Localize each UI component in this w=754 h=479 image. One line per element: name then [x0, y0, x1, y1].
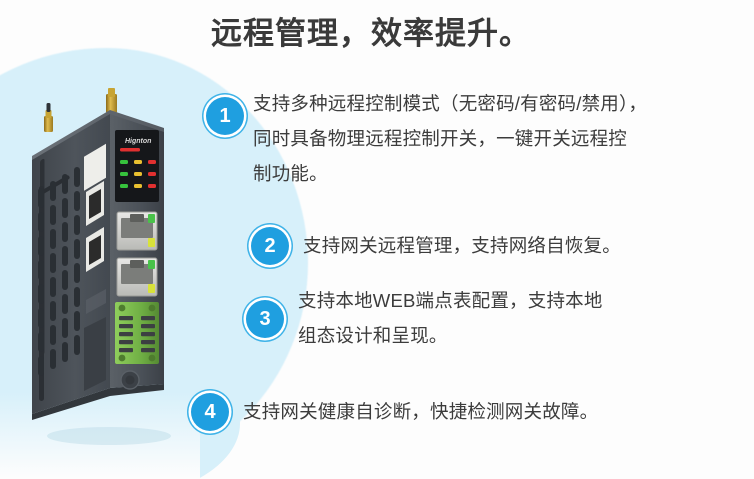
feature-text-1: 支持多种远程控制模式（无密码/有密码/禁用）， 同时具备物理远程控制开关，一键开…: [253, 86, 748, 191]
screw-terminal-block: [115, 302, 159, 364]
feature-badge-3[interactable]: 3: [246, 300, 284, 338]
activity-led-yellow: [148, 238, 155, 247]
side-spec-label: [84, 317, 106, 391]
feature-text-4: 支持网关健康自诊断，快捷检测网关故障。: [243, 394, 743, 429]
antenna-connector-right: [106, 88, 117, 113]
page-title: 远程管理，效率提升。: [0, 8, 754, 53]
reset-button: [121, 371, 139, 389]
feature-badge-1[interactable]: 1: [206, 97, 244, 135]
feature-badge-2[interactable]: 2: [251, 227, 289, 265]
poster-canvas: 远程管理，效率提升。: [0, 0, 754, 479]
antenna-connector-left: [44, 103, 53, 132]
led-power: [120, 148, 140, 152]
device-brand-text: Hignton: [125, 138, 151, 145]
link-led-green: [148, 214, 155, 223]
device-shadow: [47, 427, 171, 445]
rj45-port-2: [117, 258, 157, 296]
feature-text-2: 支持网关远程管理，支持网络自恢复。: [303, 228, 753, 263]
feature-badge-4[interactable]: 4: [191, 393, 229, 431]
gateway-device-image: Hignton: [14, 88, 214, 448]
rj45-port-1: [117, 212, 157, 250]
led-indicator-panel: Hignton: [115, 130, 159, 202]
feature-text-3: 支持本地WEB端点表配置，支持本地 组态设计和呈现。: [298, 283, 748, 353]
